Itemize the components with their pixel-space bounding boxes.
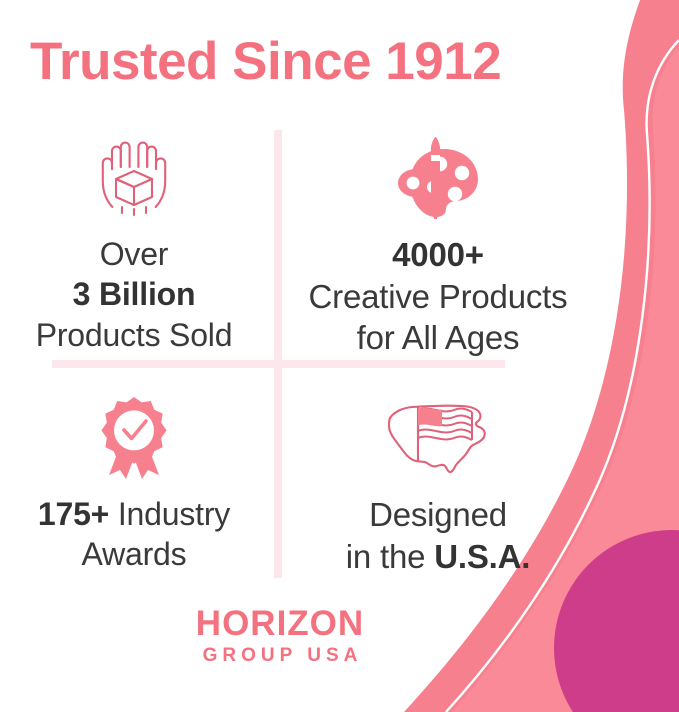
feature-products-sold: Over 3 Billion Products Sold bbox=[0, 132, 268, 355]
caption-line-1: 4000+ bbox=[309, 234, 568, 276]
paint-palette-icon bbox=[392, 132, 484, 224]
palette-well bbox=[407, 177, 420, 190]
logo-wordmark: HORIZON bbox=[0, 606, 560, 641]
caption-line-2: Creative Products bbox=[309, 276, 568, 318]
caption-highlight: 175+ bbox=[38, 496, 109, 532]
hands-holding-box-icon bbox=[82, 132, 186, 224]
caption-line-2: 3 Billion bbox=[36, 274, 233, 314]
caption-line-1: 175+ Industry bbox=[38, 494, 230, 534]
logo-tagline: GROUP USA bbox=[0, 646, 560, 665]
palette-well bbox=[455, 166, 469, 180]
caption-rest: Industry bbox=[109, 496, 230, 532]
caption-prefix: in the bbox=[346, 538, 435, 575]
feature-creative-products: 4000+ Creative Products for All Ages bbox=[288, 132, 588, 359]
page-title: Trusted Since 1912 bbox=[30, 34, 590, 90]
badge-inner bbox=[114, 410, 154, 450]
flag-canton bbox=[418, 408, 442, 426]
caption-line-3: for All Ages bbox=[309, 317, 568, 359]
caption-line-1: Over bbox=[36, 234, 233, 274]
divider-vertical bbox=[274, 130, 282, 578]
caption-line-3: Products Sold bbox=[36, 315, 233, 355]
award-ribbon-icon bbox=[93, 392, 175, 484]
brand-logo: HORIZON GROUP USA bbox=[0, 606, 560, 665]
feature-designed-in-usa: Designed in the U.S.A. bbox=[288, 392, 588, 577]
feature-caption: 175+ Industry Awards bbox=[38, 494, 230, 575]
feature-caption: Designed in the U.S.A. bbox=[346, 494, 530, 577]
caption-line-2: Awards bbox=[38, 534, 230, 574]
feature-caption: 4000+ Creative Products for All Ages bbox=[309, 234, 568, 359]
caption-line-1: Designed bbox=[346, 494, 530, 536]
infographic-canvas: Trusted Since 1912 bbox=[0, 0, 679, 712]
caption-line-2: in the U.S.A. bbox=[346, 536, 530, 578]
caption-highlight: U.S.A. bbox=[434, 538, 530, 575]
usa-map-flag-icon bbox=[380, 392, 496, 484]
palette-well bbox=[448, 187, 462, 201]
feature-caption: Over 3 Billion Products Sold bbox=[36, 234, 233, 355]
feature-industry-awards: 175+ Industry Awards bbox=[0, 392, 268, 575]
paintbrush bbox=[431, 137, 440, 219]
